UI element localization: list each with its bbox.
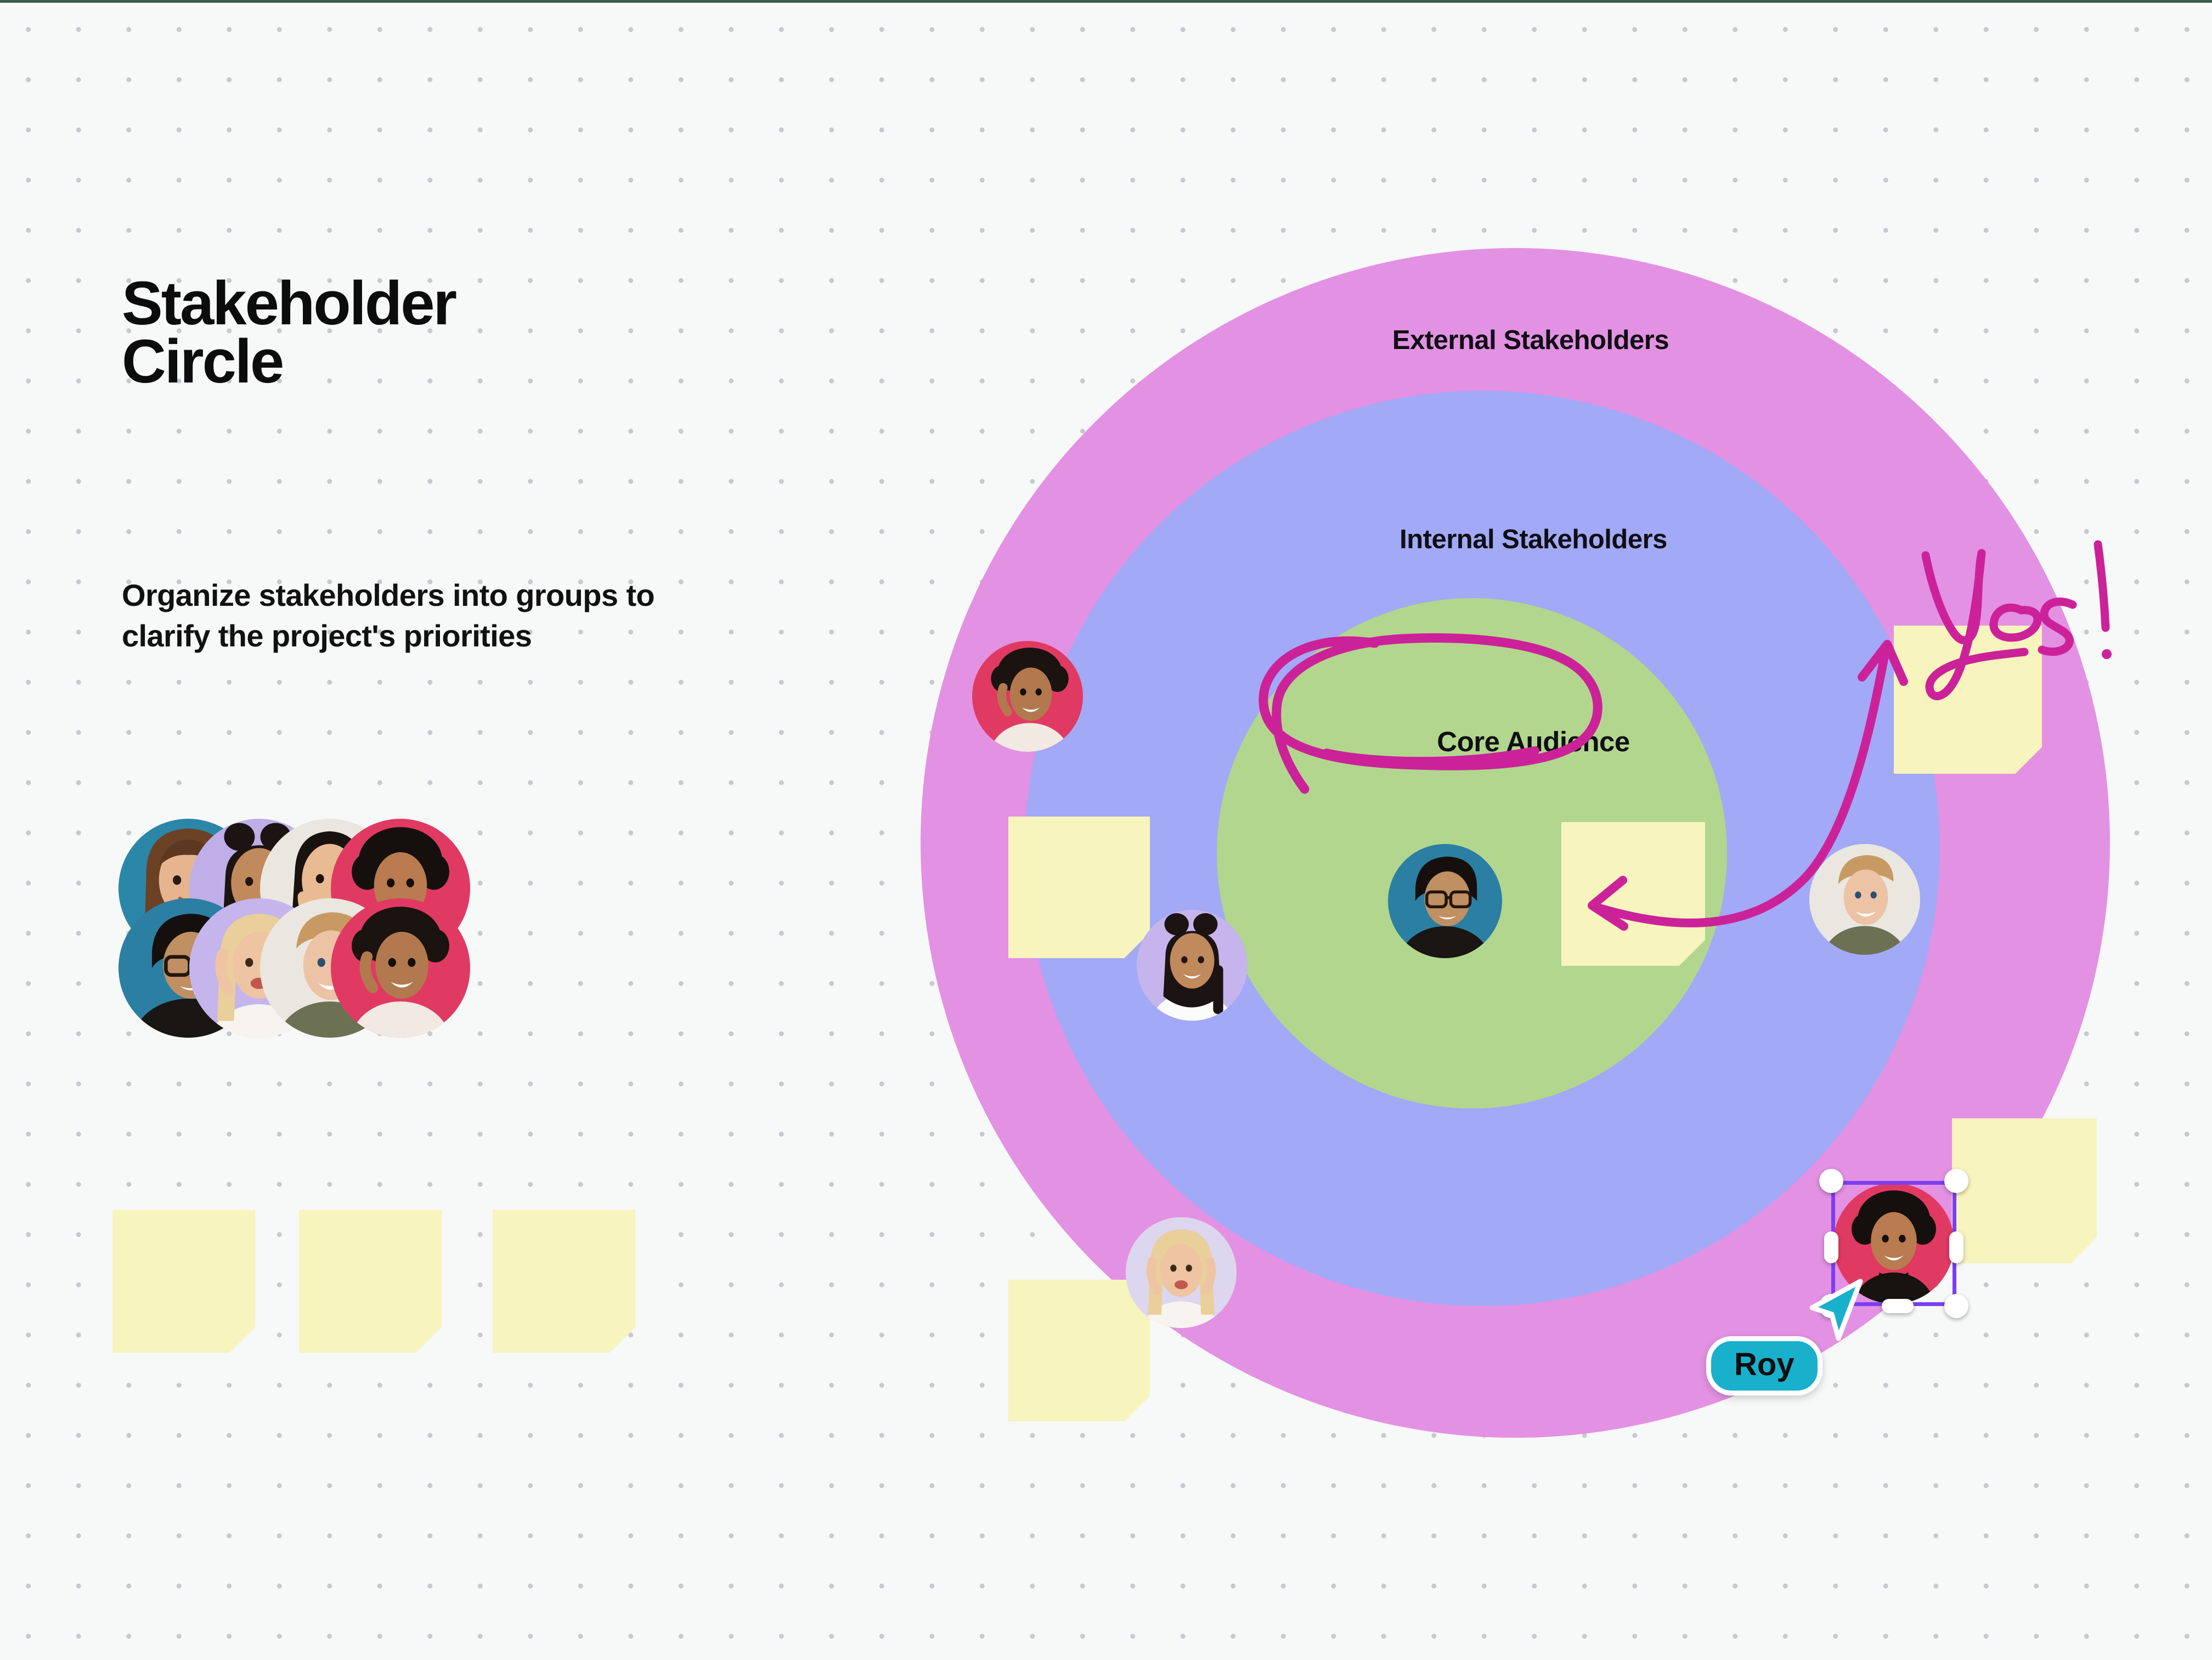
page-title: Stakeholder Circle <box>122 274 890 391</box>
placed-avatar-woman-braids[interactable] <box>1137 910 1248 1021</box>
ring-label-core: Core Audience <box>1377 725 1690 758</box>
sticky-note-left-1[interactable] <box>112 1210 255 1353</box>
collaborator-name-label: Roy <box>1706 1336 1822 1395</box>
sticky-note-left-3[interactable] <box>493 1210 635 1353</box>
placed-avatar-woman-blonde[interactable] <box>1126 1217 1237 1328</box>
page-subtitle: Organize stakeholders into groups to cla… <box>122 575 670 657</box>
selection-handle-left[interactable] <box>1824 1231 1838 1263</box>
placed-avatar-man-glasses[interactable] <box>1388 844 1502 958</box>
placed-avatar-man-blond[interactable] <box>1809 844 1920 955</box>
page-title-line2: Circle <box>122 333 890 391</box>
page-title-line1: Stakeholder <box>122 274 890 333</box>
ring-label-internal: Internal Stakeholders <box>1297 524 1769 555</box>
sticky-note-core[interactable] <box>1561 822 1705 966</box>
selection-handle-top-right[interactable] <box>1944 1169 1968 1193</box>
sticky-note-yes[interactable] <box>1894 626 2042 774</box>
selection-handle-bottom[interactable] <box>1882 1299 1914 1313</box>
sticky-note-left-2[interactable] <box>299 1210 442 1353</box>
ring-label-external: External Stakeholders <box>1295 325 1767 356</box>
selection-handle-right[interactable] <box>1949 1231 1963 1263</box>
selection-handle-bottom-right[interactable] <box>1944 1294 1968 1318</box>
placed-avatar-woman-curly-red-bg[interactable] <box>972 641 1083 752</box>
cursor-pointer-icon <box>1808 1276 1868 1344</box>
selection-handle-top-left[interactable] <box>1819 1169 1843 1193</box>
avatar-woman-curly-pink[interactable] <box>331 898 470 1038</box>
sticky-note-right[interactable] <box>1952 1118 2097 1263</box>
sticky-note-outer-left[interactable] <box>1008 817 1150 958</box>
top-accent-bar <box>0 0 2212 3</box>
